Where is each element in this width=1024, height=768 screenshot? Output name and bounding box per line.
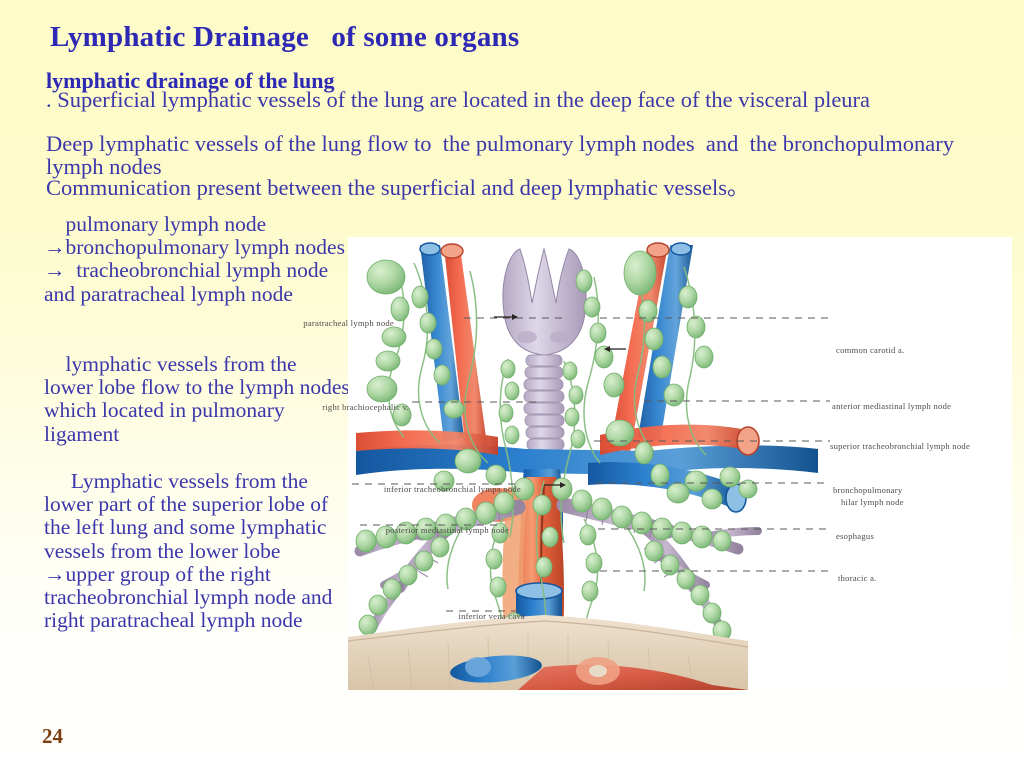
figure-label-superior-tracheobronchial-lymph-node: superior tracheobronchial lymph node — [830, 441, 970, 452]
figure-label-anterior-mediastinal-lymph-node: anterior mediastinal lymph node — [832, 401, 951, 412]
slide-canvas: Lymphatic Drainage of some organs lympha… — [0, 0, 1024, 768]
left-column-paragraph-superior-lobe: Lymphatic vessels from the lower part of… — [44, 470, 350, 632]
page-number: 24 — [42, 724, 63, 749]
thoracic-lymph-diagram-svg — [348, 237, 1012, 690]
figure-label-paratracheal-lymph-node: paratracheal lymph node — [303, 318, 394, 329]
figure-panel — [348, 237, 1012, 690]
figure-label-bronchopulmonary-line1: bronchopulmonary — [833, 485, 902, 496]
left-column-paragraph-drainage-chain: pulmonary lymph node →bronchopulmonary l… — [44, 213, 350, 306]
figure-label-bronchopulmonary-line2: hilar lymph node — [841, 497, 904, 508]
figure-label-inferior-tracheobronchial-lymph-node: inferior tracheobronchial lympa node — [384, 484, 521, 495]
figure-label-inferior-vena-cava: inferior vena cava — [458, 611, 525, 622]
paragraph-superficial-vessels: . Superficial lymphatic vessels of the l… — [46, 88, 1006, 111]
page-title: Lymphatic Drainage of some organs — [50, 21, 519, 54]
figure-label-common-carotid-artery: common carotid a. — [836, 345, 904, 356]
figure-label-posterior-mediastinal-lymph-node: posterior mediastinal lymph node — [386, 525, 509, 536]
figure-label-esophagus: esophagus — [836, 531, 874, 542]
paragraph-communication: Communication present between the superf… — [46, 176, 1006, 199]
paragraph-deep-vessels: Deep lymphatic vessels of the lung flow … — [46, 132, 1006, 178]
figure-label-thoracic-artery: thoracic a. — [838, 573, 877, 584]
left-column-paragraph-lower-lobe: lymphatic vessels from the lower lobe fl… — [44, 353, 350, 446]
figure-label-right-brachiocephalic-vein: right brachiocephalic v. — [322, 402, 409, 413]
